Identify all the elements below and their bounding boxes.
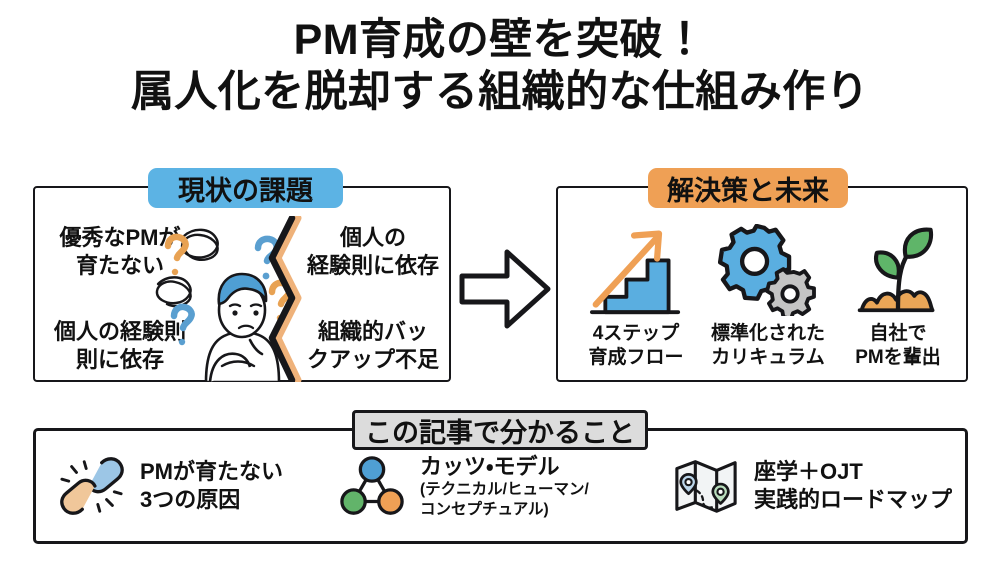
zigzag-divider-icon [268,216,312,382]
problem-panel-badge: 現状の課題 [148,168,343,208]
solution-item-sprout: 自社で PMを輩出 [832,216,964,370]
takeaway-title: カッツ・モデル [420,453,589,481]
title-line-1: PM育成の壁を突破！ [0,14,1000,66]
gears-icon [718,216,818,316]
roadmap-map-icon [672,452,740,520]
takeaway-title: PMが育たない 3つの原因 [140,458,283,513]
growth-stairs-icon [586,216,686,316]
problem-item-top-right: 個人の 経験則に依存 [300,224,446,280]
takeaway-item-causes: PMが育たない 3つの原因 [58,452,338,520]
solution-item-label: 4ステップ 育成フロー [588,322,683,370]
solution-item-label: 標準化された カリキュラム [711,322,825,370]
solution-item-label: 自社で PMを輩出 [855,322,941,370]
solution-item-growth-flow: 4ステップ 育成フロー [570,216,702,370]
page-title: PM育成の壁を突破！ 属人化を脱却する組織的な仕組み作り [0,14,1000,119]
takeaway-subtitle: (テクニカル/ヒューマン/ コンセプチュアル) [420,480,589,519]
broken-chain-icon [58,452,126,520]
solution-panel-badge: 解決策と未来 [648,168,848,208]
takeaway-title: 座学＋OJT 実践的ロードマップ [754,458,952,513]
takeaway-item-roadmap: 座学＋OJT 実践的ロードマップ [672,452,962,520]
title-line-2: 属人化を脱却する組織的な仕組み作り [0,66,1000,118]
problem-item-bottom-right: 組織的バッ クアップ不足 [298,318,448,374]
katz-model-nodes-icon [338,452,406,520]
sprout-icon [848,216,948,316]
takeaway-item-katz-model: カッツ・モデル (テクニカル/ヒューマン/ コンセプチュアル) [338,452,658,520]
takeaways-panel-badge: この記事で分かること [352,410,648,450]
right-arrow-icon [459,248,551,330]
solution-item-curriculum: 標準化された カリキュラム [702,216,834,370]
